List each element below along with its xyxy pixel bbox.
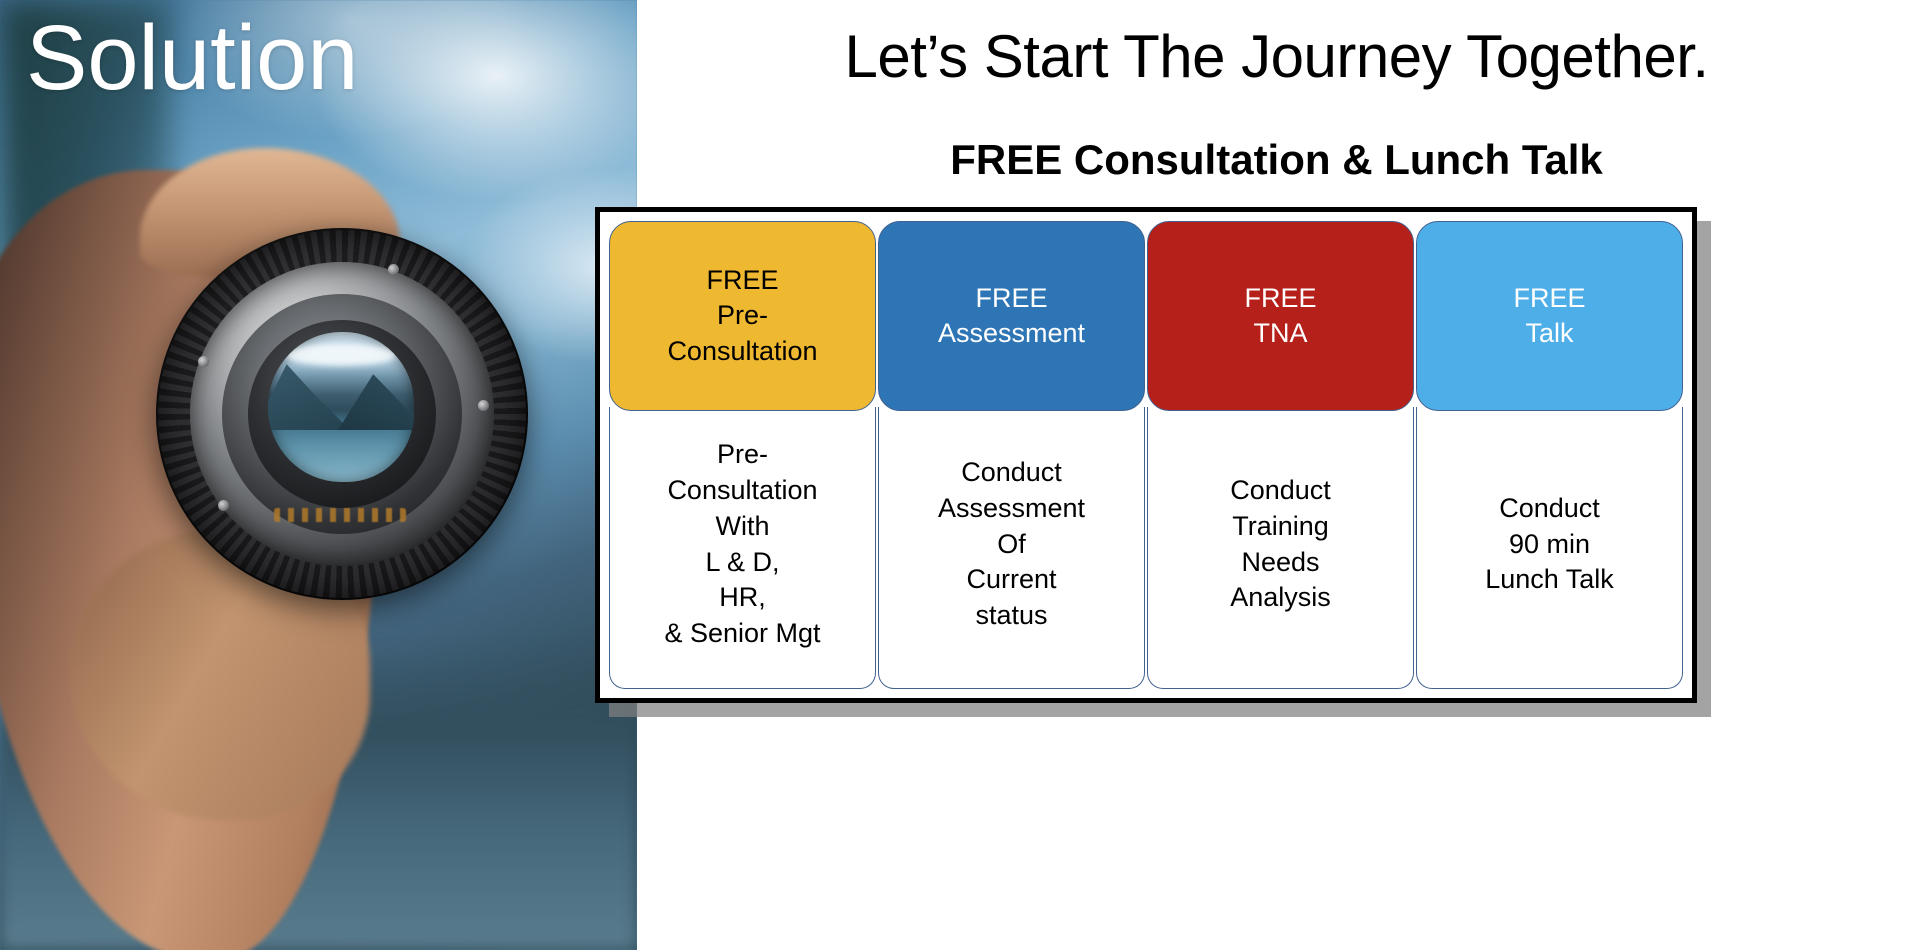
- lens-screw-icon: [218, 500, 229, 511]
- hero-photo: Solution: [0, 0, 637, 950]
- offer-table: FREEPre-Consultation Pre-ConsultationWit…: [595, 207, 1697, 703]
- lens-screw-icon: [388, 264, 399, 275]
- page-title: Let’s Start The Journey Together.: [637, 22, 1916, 91]
- cloud-icon: [286, 344, 396, 366]
- offer-header-tna[interactable]: FREETNA: [1147, 221, 1414, 411]
- offer-body-tna: ConductTrainingNeedsAnalysis: [1147, 407, 1414, 689]
- slide: Solution Let’s Start The Journey Togethe…: [0, 0, 1916, 934]
- offer-column-assessment: FREEAssessment ConductAssessmentOfCurren…: [878, 221, 1145, 689]
- offer-body-talk: Conduct90 minLunch Talk: [1416, 407, 1683, 689]
- offer-header-talk[interactable]: FREETalk: [1416, 221, 1683, 411]
- offer-header-pre-consultation[interactable]: FREEPre-Consultation: [609, 221, 876, 411]
- offer-column-pre-consultation: FREEPre-Consultation Pre-ConsultationWit…: [609, 221, 876, 689]
- offer-column-talk: FREETalk Conduct90 minLunch Talk: [1416, 221, 1683, 689]
- lens-view-scene-icon: [268, 332, 414, 482]
- offer-body-pre-consultation: Pre-ConsultationWithL & D,HR,& Senior Mg…: [609, 407, 876, 689]
- offer-column-tna: FREETNA ConductTrainingNeedsAnalysis: [1147, 221, 1414, 689]
- section-label: Solution: [26, 12, 358, 104]
- offer-body-assessment: ConductAssessmentOfCurrentstatus: [878, 407, 1145, 689]
- camera-lens-icon: [156, 228, 528, 600]
- lens-contacts-icon: [274, 508, 406, 522]
- mountain-right-icon: [338, 368, 414, 430]
- page-subtitle: FREE Consultation & Lunch Talk: [637, 136, 1916, 184]
- offer-columns: FREEPre-Consultation Pre-ConsultationWit…: [609, 221, 1683, 689]
- lens-screw-icon: [478, 400, 489, 411]
- lens-screw-icon: [198, 356, 209, 367]
- offer-header-assessment[interactable]: FREEAssessment: [878, 221, 1145, 411]
- content-panel: Let’s Start The Journey Together. FREE C…: [637, 0, 1916, 934]
- mountain-left-icon: [268, 360, 350, 430]
